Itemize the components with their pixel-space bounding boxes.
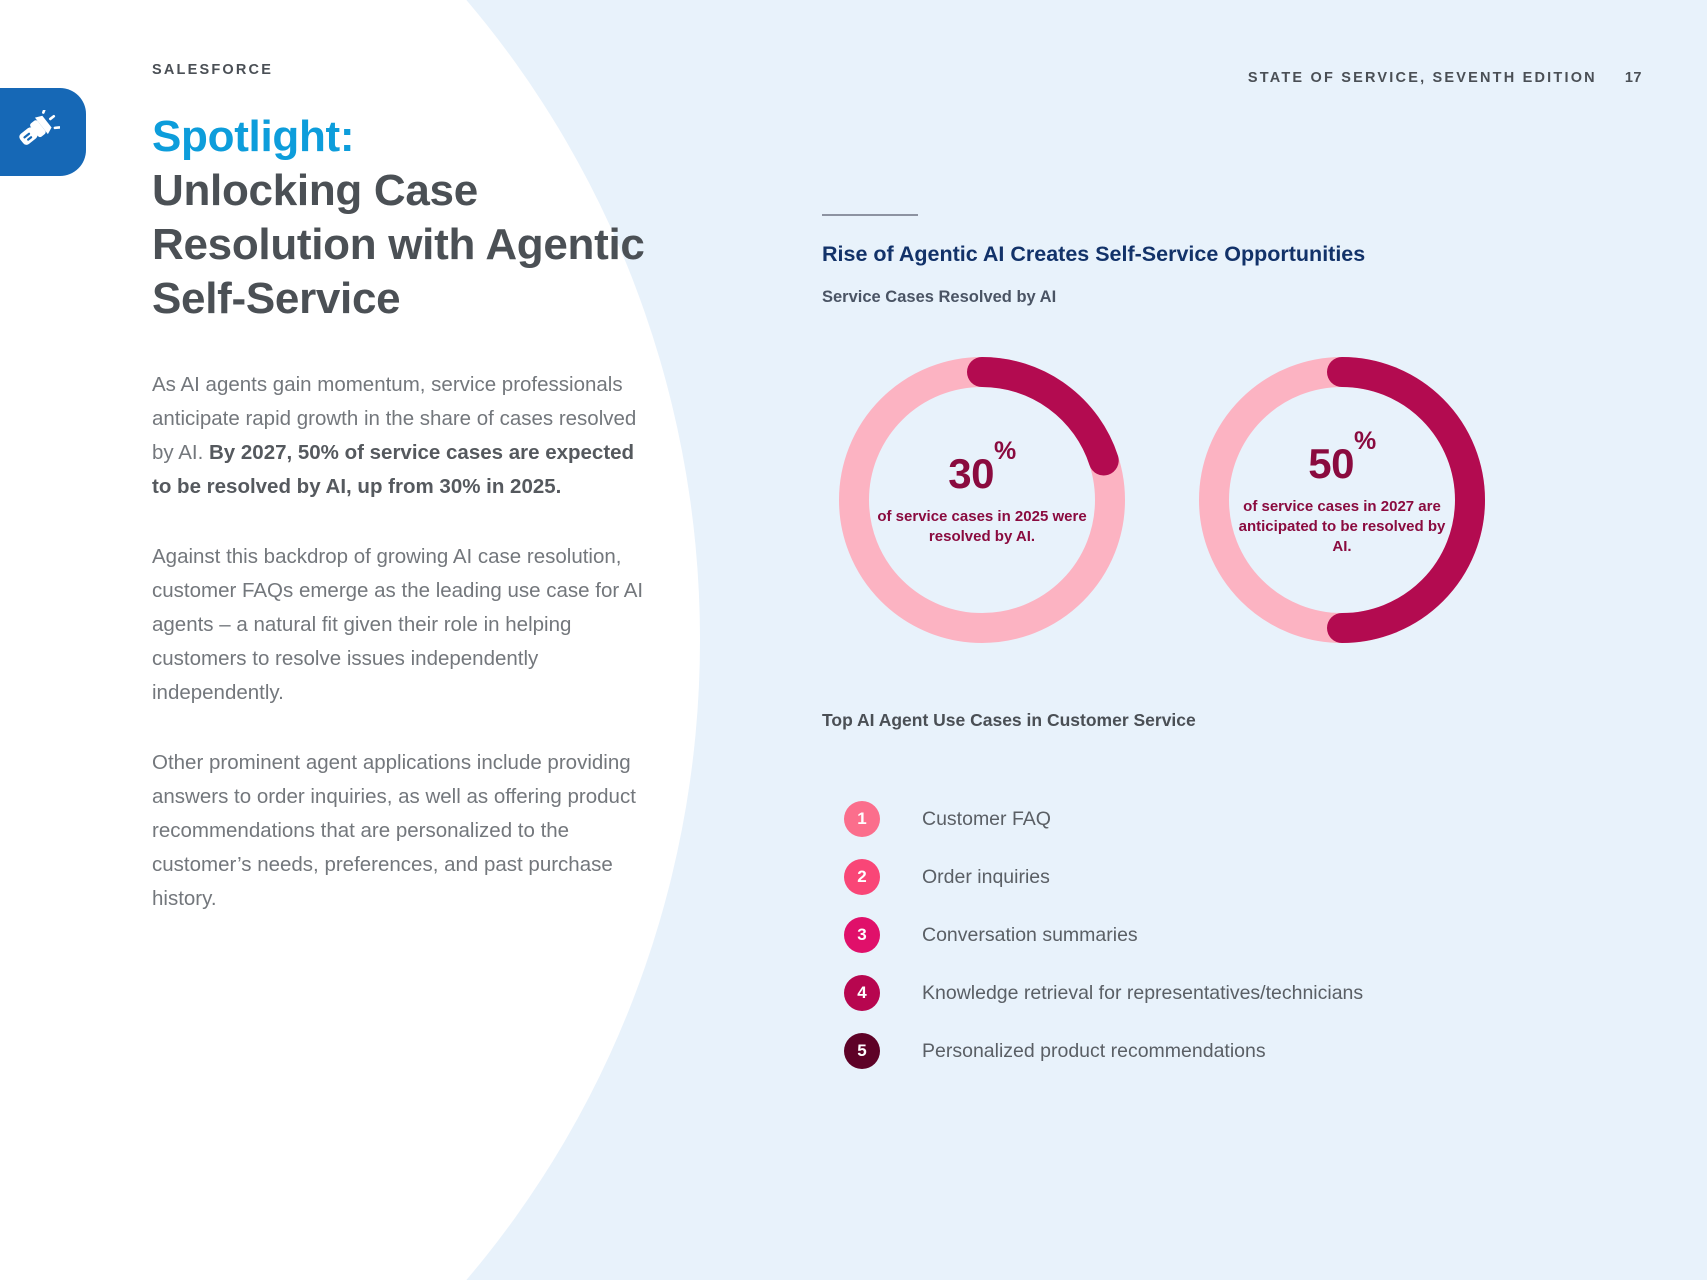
page-title-highlight: Spotlight: bbox=[152, 112, 354, 161]
chart-title: Rise of Agentic AI Creates Self-Service … bbox=[822, 242, 1365, 267]
donut-value-2025: 30% bbox=[948, 453, 1015, 495]
donut-center-2027: 50% of service cases in 2027 are anticip… bbox=[1182, 340, 1502, 660]
page-title: Spotlight: Unlocking Case Resolution wit… bbox=[152, 110, 652, 326]
donut-center-2025: 30% of service cases in 2025 were resolv… bbox=[822, 340, 1142, 660]
donut-value-2027: 50% bbox=[1308, 443, 1375, 485]
use-case-label-3: Conversation summaries bbox=[922, 924, 1138, 947]
list-item: 4 Knowledge retrieval for representative… bbox=[844, 964, 1604, 1022]
donut-suffix-2025: % bbox=[994, 437, 1016, 465]
chart-subtitle: Service Cases Resolved by AI bbox=[822, 288, 1056, 307]
donut-chart-2027: 50% of service cases in 2027 are anticip… bbox=[1182, 340, 1502, 660]
list-item: 2 Order inquiries bbox=[844, 848, 1604, 906]
rank-badge-2: 2 bbox=[844, 859, 880, 895]
list-item: 3 Conversation summaries bbox=[844, 906, 1604, 964]
use-case-label-4: Knowledge retrieval for representatives/… bbox=[922, 982, 1363, 1005]
brand-label: SALESFORCE bbox=[152, 62, 652, 78]
rank-badge-1: 1 bbox=[844, 801, 880, 837]
use-case-label-5: Personalized product recommendations bbox=[922, 1040, 1266, 1063]
paragraph-1-bold: By 2027, 50% of service cases are expect… bbox=[152, 441, 634, 498]
rank-badge-3: 3 bbox=[844, 917, 880, 953]
report-header: STATE OF SERVICE, SEVENTH EDITION17 bbox=[822, 70, 1642, 86]
donut-number-2025: 30 bbox=[948, 450, 994, 497]
paragraph-1: As AI agents gain momentum, service prof… bbox=[152, 368, 652, 504]
donut-chart-group: 30% of service cases in 2025 were resolv… bbox=[812, 340, 1572, 670]
donut-caption-2027: of service cases in 2027 are anticipated… bbox=[1235, 497, 1450, 557]
section-rule bbox=[822, 214, 918, 216]
donut-caption-2025: of service cases in 2025 were resolved b… bbox=[875, 507, 1090, 547]
report-name: STATE OF SERVICE, SEVENTH EDITION bbox=[1248, 70, 1597, 86]
left-content-column: SALESFORCE Spotlight: Unlocking Case Res… bbox=[152, 62, 652, 916]
rank-badge-4: 4 bbox=[844, 975, 880, 1011]
rank-badge-5: 5 bbox=[844, 1033, 880, 1069]
donut-chart-2025: 30% of service cases in 2025 were resolv… bbox=[822, 340, 1142, 660]
donut-number-2027: 50 bbox=[1308, 440, 1354, 487]
use-cases-list: 1 Customer FAQ 2 Order inquiries 3 Conve… bbox=[844, 790, 1604, 1080]
page-title-rest: Unlocking Case Resolution with Agentic S… bbox=[152, 166, 645, 323]
paragraph-2: Against this backdrop of growing AI case… bbox=[152, 540, 652, 710]
list-item: 1 Customer FAQ bbox=[844, 790, 1604, 848]
flashlight-icon bbox=[0, 110, 60, 155]
use-cases-title: Top AI Agent Use Cases in Customer Servi… bbox=[822, 710, 1196, 731]
use-case-label-2: Order inquiries bbox=[922, 866, 1050, 889]
list-item: 5 Personalized product recommendations bbox=[844, 1022, 1604, 1080]
spotlight-tab bbox=[0, 88, 86, 176]
page-canvas: SALESFORCE Spotlight: Unlocking Case Res… bbox=[0, 0, 1707, 1280]
donut-suffix-2027: % bbox=[1354, 427, 1376, 455]
paragraph-3: Other prominent agent applications inclu… bbox=[152, 746, 652, 916]
page-number: 17 bbox=[1625, 70, 1642, 86]
use-case-label-1: Customer FAQ bbox=[922, 808, 1051, 831]
